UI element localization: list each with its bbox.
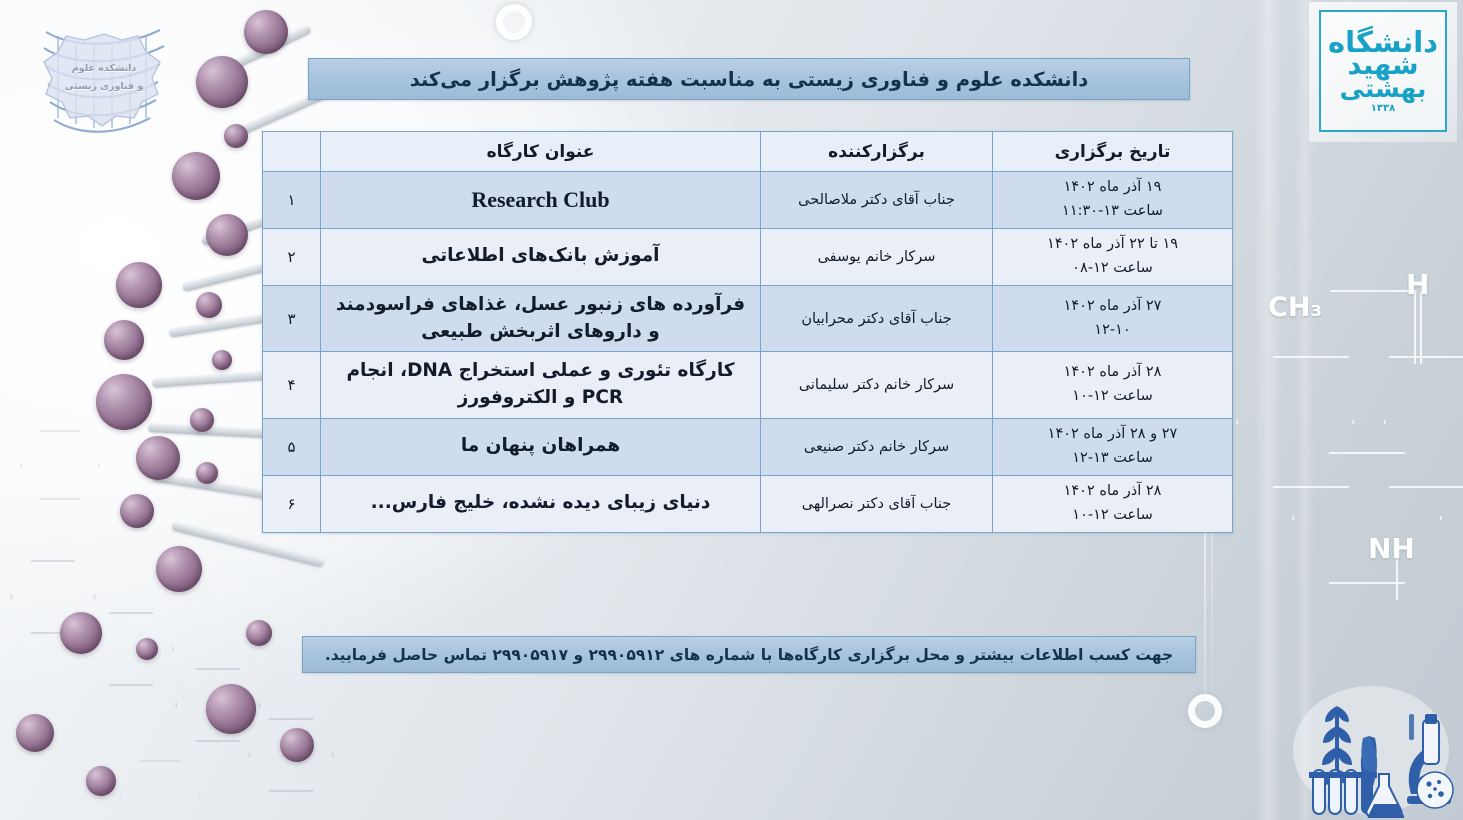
faculty-seal-line1: دانشکده علوم — [24, 60, 184, 78]
cell-date-line2: ساعت ۱۳-۱۲ — [1001, 447, 1224, 471]
cell-host: جناب آقای دکتر محرابیان — [761, 285, 993, 352]
university-logo-icon: دانشگاه شهید بهشتی ۱۳۳۸ — [1321, 12, 1445, 130]
cell-row-number: ۲ — [263, 228, 321, 285]
cell-title: Research Club — [321, 172, 761, 229]
column-header-title: عنوان کارگاه — [321, 132, 761, 172]
table-row: ۲۷ آذر ماه ۱۴۰۲۱۲-۱۰جناب آقای دکتر محراب… — [263, 285, 1233, 352]
chem-label-nh: NH — [1368, 532, 1415, 565]
cell-host: سرکار خانم دکتر سلیمانی — [761, 352, 993, 419]
title-banner: دانشکده علوم و فناوری زیستی به مناسبت هف… — [308, 58, 1190, 100]
cell-row-number: ۱ — [263, 172, 321, 229]
chem-label-ch3: CH₃ — [1268, 292, 1322, 323]
cell-host: سرکار خانم یوسفی — [761, 228, 993, 285]
biotech-lab-emblem-icon — [1283, 678, 1459, 818]
university-logo-year: ۱۳۳۸ — [1371, 104, 1395, 113]
chem-label-h: H — [1406, 268, 1429, 301]
university-logo: دانشگاه شهید بهشتی ۱۳۳۸ — [1309, 2, 1457, 142]
cell-row-number: ۶ — [263, 475, 321, 532]
table-row: ۲۷ و ۲۸ آذر ماه ۱۴۰۲ساعت ۱۳-۱۲سرکار خانم… — [263, 418, 1233, 475]
cell-date-line2: ساعت ۱۲-۱۰ — [1001, 504, 1224, 528]
workshop-table: تاریخ برگزاری برگزارکننده عنوان کارگاه ۱… — [262, 131, 1233, 533]
cell-date-line1: ۱۹ آذر ماه ۱۴۰۲ — [1001, 176, 1224, 200]
cell-date-line2: ساعت ۱۲-۱۰ — [1001, 385, 1224, 409]
cell-title: کارگاه تئوری و عملی استخراج DNA، انجام P… — [321, 352, 761, 419]
table-row: ۱۹ تا ۲۲ آذر ماه ۱۴۰۲ساعت ۱۲-۰۸سرکار خان… — [263, 228, 1233, 285]
cell-date-line1: ۲۸ آذر ماه ۱۴۰۲ — [1001, 480, 1224, 504]
cell-host: جناب آقای دکتر نصرالهی — [761, 475, 993, 532]
biotech-emblem — [1283, 678, 1459, 818]
cell-date-line2: ساعت ۱۲-۰۸ — [1001, 257, 1224, 281]
contact-banner: جهت کسب اطلاعات بیشتر و محل برگزاری کارگ… — [302, 636, 1196, 673]
faculty-seal-line2: و فناوری زیستی — [24, 78, 184, 96]
cell-date: ۲۷ آذر ماه ۱۴۰۲۱۲-۱۰ — [993, 285, 1233, 352]
faculty-seal: دانشکده علوم و فناوری زیستی — [24, 14, 184, 146]
cell-date-line1: ۲۸ آذر ماه ۱۴۰۲ — [1001, 361, 1224, 385]
cell-date: ۱۹ تا ۲۲ آذر ماه ۱۴۰۲ساعت ۱۲-۰۸ — [993, 228, 1233, 285]
column-header-num — [263, 132, 321, 172]
cell-date-line2: ۱۲-۱۰ — [1001, 319, 1224, 343]
cell-date: ۲۸ آذر ماه ۱۴۰۲ساعت ۱۲-۱۰ — [993, 475, 1233, 532]
cell-host: جناب آقای دکتر ملاصالحی — [761, 172, 993, 229]
cell-row-number: ۵ — [263, 418, 321, 475]
faculty-seal-text: دانشکده علوم و فناوری زیستی — [24, 60, 184, 96]
cell-date-line1: ۱۹ تا ۲۲ آذر ماه ۱۴۰۲ — [1001, 233, 1224, 257]
university-logo-line3: بهشتی — [1340, 77, 1427, 100]
poster-canvas: CH₃ H NH دانشکده علوم و فناوری زیستی — [0, 0, 1463, 820]
cell-title: دنیای زیبای دیده نشده، خلیج فارس... — [321, 475, 761, 532]
cell-date: ۱۹ آذر ماه ۱۴۰۲ساعت ۱۳-۱۱:۳۰ — [993, 172, 1233, 229]
cell-row-number: ۴ — [263, 352, 321, 419]
cell-date-line2: ساعت ۱۳-۱۱:۳۰ — [1001, 200, 1224, 224]
university-logo-frame: دانشگاه شهید بهشتی ۱۳۳۸ — [1319, 10, 1447, 132]
cell-title: آموزش بانک‌های اطلاعاتی — [321, 228, 761, 285]
column-header-host: برگزارکننده — [761, 132, 993, 172]
cell-title: همراهان پنهان ما — [321, 418, 761, 475]
table-row: ۱۹ آذر ماه ۱۴۰۲ساعت ۱۳-۱۱:۳۰جناب آقای دک… — [263, 172, 1233, 229]
cell-date-line1: ۲۷ آذر ماه ۱۴۰۲ — [1001, 295, 1224, 319]
table-row: ۲۸ آذر ماه ۱۴۰۲ساعت ۱۲-۱۰سرکار خانم دکتر… — [263, 352, 1233, 419]
cell-host: سرکار خانم دکتر صنیعی — [761, 418, 993, 475]
table-row: ۲۸ آذر ماه ۱۴۰۲ساعت ۱۲-۱۰جناب آقای دکتر … — [263, 475, 1233, 532]
cell-date: ۲۷ و ۲۸ آذر ماه ۱۴۰۲ساعت ۱۳-۱۲ — [993, 418, 1233, 475]
cell-title: فرآورده های زنبور عسل، غذاهای فراسودمند … — [321, 285, 761, 352]
cell-row-number: ۳ — [263, 285, 321, 352]
column-header-date: تاریخ برگزاری — [993, 132, 1233, 172]
table-header-row: تاریخ برگزاری برگزارکننده عنوان کارگاه — [263, 132, 1233, 172]
cell-date-line1: ۲۷ و ۲۸ آذر ماه ۱۴۰۲ — [1001, 423, 1224, 447]
cell-date: ۲۸ آذر ماه ۱۴۰۲ساعت ۱۲-۱۰ — [993, 352, 1233, 419]
